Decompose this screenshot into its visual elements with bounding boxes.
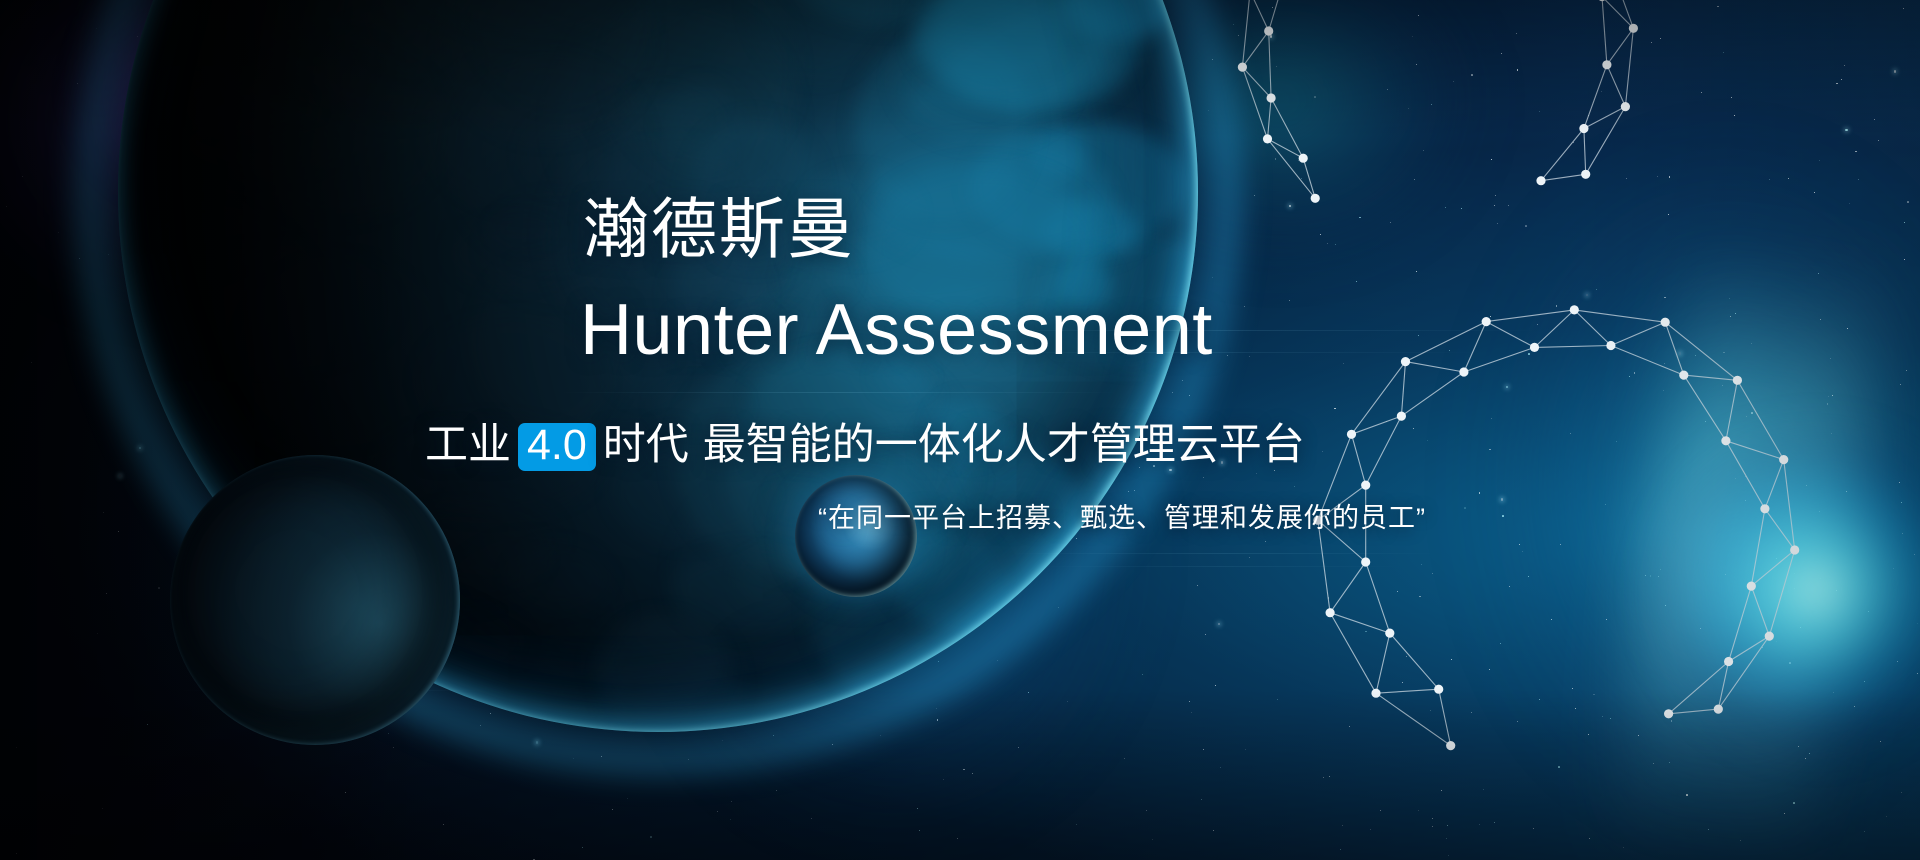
hero-banner: 瀚德斯曼 Hunter Assessment 工业4.0时代最智能的一体化人才管… [0,0,1920,860]
dark-moon [170,455,460,745]
node-network-ring-bottom [1250,250,1810,810]
node-network-ring-top [1180,0,1700,280]
scan-streak [560,392,1120,393]
blue-moon [795,475,917,597]
